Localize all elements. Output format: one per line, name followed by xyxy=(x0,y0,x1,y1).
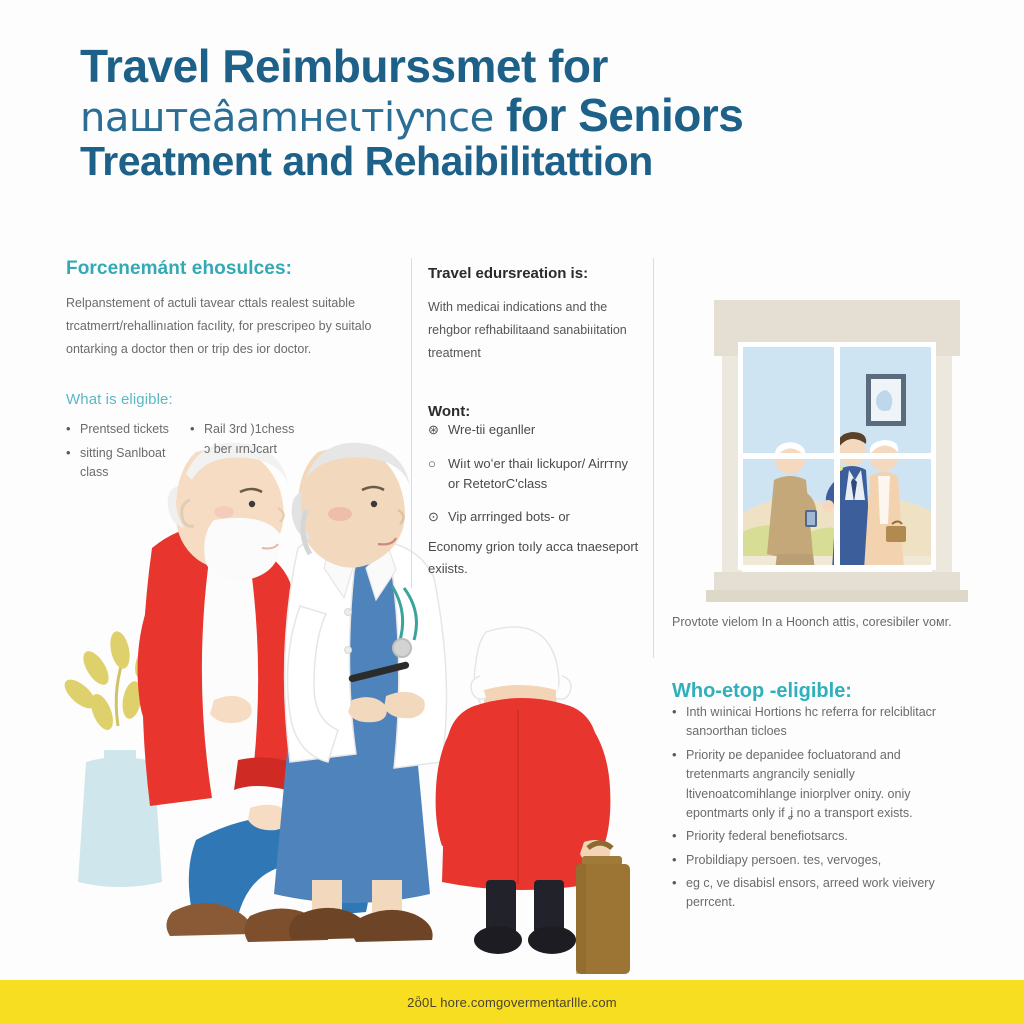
list-item: Prentsed tickets xyxy=(66,420,176,439)
middle-column-subheading: Wont: xyxy=(428,403,643,420)
left-column: Forcenemánt ehosulces: Relpanstement of … xyxy=(66,258,396,487)
right-column-heading: Who-etop -eligible: xyxy=(672,680,962,703)
left-column-bullet-groups: Prentsed tickets sitting Sanlboat class … xyxy=(66,420,396,486)
left-bullet-list-1: Prentsed tickets sitting Sanlboat class xyxy=(66,420,176,482)
elderly-woman-suitcase-figure xyxy=(436,627,630,974)
list-item: Inth wıinicai Hortions hc referra for re… xyxy=(672,703,962,742)
window-person-right xyxy=(864,440,906,570)
list-item: eg c, ve disabisl ensors, arreed work vi… xyxy=(672,874,962,913)
title-line-2-rest: for Seniors xyxy=(506,89,743,141)
column-divider-right xyxy=(653,258,654,658)
infographic-poster: Travel Reimburssmet for naштeâamнeιтiƴnc… xyxy=(0,0,1024,1024)
list-item: Priority ɒe depanidee focluatorand and t… xyxy=(672,746,962,824)
list-item: ⊛Wre-tii eganller xyxy=(428,420,643,440)
window-person-middle xyxy=(822,432,872,570)
title-garbled-text: naштeâamнeιтiƴnce xyxy=(80,95,494,141)
circle-check-icon: ⊛ xyxy=(428,420,439,440)
doctor-figure xyxy=(274,443,447,942)
right-column-bullet-list-2: Priority federal benefiotsarcs. Probildi… xyxy=(672,827,962,913)
left-bullets-group-1: Prentsed tickets sitting Sanlboat class xyxy=(66,420,176,486)
list-item-label: Vip arrrinɡed bоts- or xyxy=(448,509,570,524)
left-bullet-list-2: Rail 3rd )1chess ɔ ber ırnJcart xyxy=(190,420,300,459)
middle-column-paragraph: With medicai indications and the rehgbor… xyxy=(428,296,643,365)
list-item: Rail 3rd )1chess ɔ ber ırnJcart xyxy=(190,420,300,459)
list-item-label: Wiıt woʻer thaiı lickupor/ Airrтny or Re… xyxy=(448,456,628,491)
middle-column: Travel edursreation is: With medicai ind… xyxy=(428,265,643,580)
title-line-2: naштeâamнeιтiƴnce for Seniors xyxy=(80,91,960,140)
circle-dot-icon: ⊙ xyxy=(428,507,439,527)
list-item: Priority federal benefiotsarcs. xyxy=(672,827,962,846)
list-item: sitting Sanlboat class xyxy=(66,444,176,483)
list-item-label: Wre-tii eganller xyxy=(448,422,535,437)
left-column-subheading: What is eligible: xyxy=(66,391,396,408)
poster-title: Travel Reimburssmet for naштeâamнeιтiƴnc… xyxy=(80,42,960,183)
list-item: ⊙Vip arrrinɡed bоts- or xyxy=(428,507,643,527)
plant-vase-illustration xyxy=(60,630,215,887)
left-column-heading: Forcenemánt ehosulces: xyxy=(66,258,396,280)
footer-url-text: 2ȫ0L hore.comgovermentarllle.com xyxy=(407,995,617,1010)
window-person-left xyxy=(767,442,817,570)
illustration-caption: Provtote vielom In a Hoonch attis, cores… xyxy=(672,612,962,632)
left-bullets-group-2: Rail 3rd )1chess ɔ ber ırnJcart xyxy=(190,420,300,486)
window-illustration xyxy=(706,300,968,602)
title-line-1: Travel Reimburssmet for xyxy=(80,42,960,91)
right-column: Provtote vielom In a Hoonch attis, cores… xyxy=(672,612,962,917)
column-divider-left xyxy=(411,258,412,588)
middle-column-item-list: ⊛Wre-tii eganller ○Wiıt woʻer thaiı lick… xyxy=(428,420,643,527)
list-item: Probildiapy persoen. tes, vervoges, xyxy=(672,851,962,870)
middle-column-tail-text: Economy grion toıly acca tnaeseport exii… xyxy=(428,536,643,580)
left-column-paragraph: Relpanstement of actuli tavear cttals re… xyxy=(66,292,386,361)
title-line-3: Treatment and Rehaibilitattion xyxy=(80,140,960,183)
footer-bar: 2ȫ0L hore.comgovermentarllle.com xyxy=(0,980,1024,1024)
right-column-bullet-list: Inth wıinicai Hortions hc referra for re… xyxy=(672,703,962,823)
elderly-man-figure xyxy=(138,443,379,942)
middle-column-heading: Travel edursreation is: xyxy=(428,265,643,282)
list-item: ○Wiıt woʻer thaiı lickupor/ Airrтny or R… xyxy=(428,454,643,494)
circle-empty-icon: ○ xyxy=(428,454,436,474)
